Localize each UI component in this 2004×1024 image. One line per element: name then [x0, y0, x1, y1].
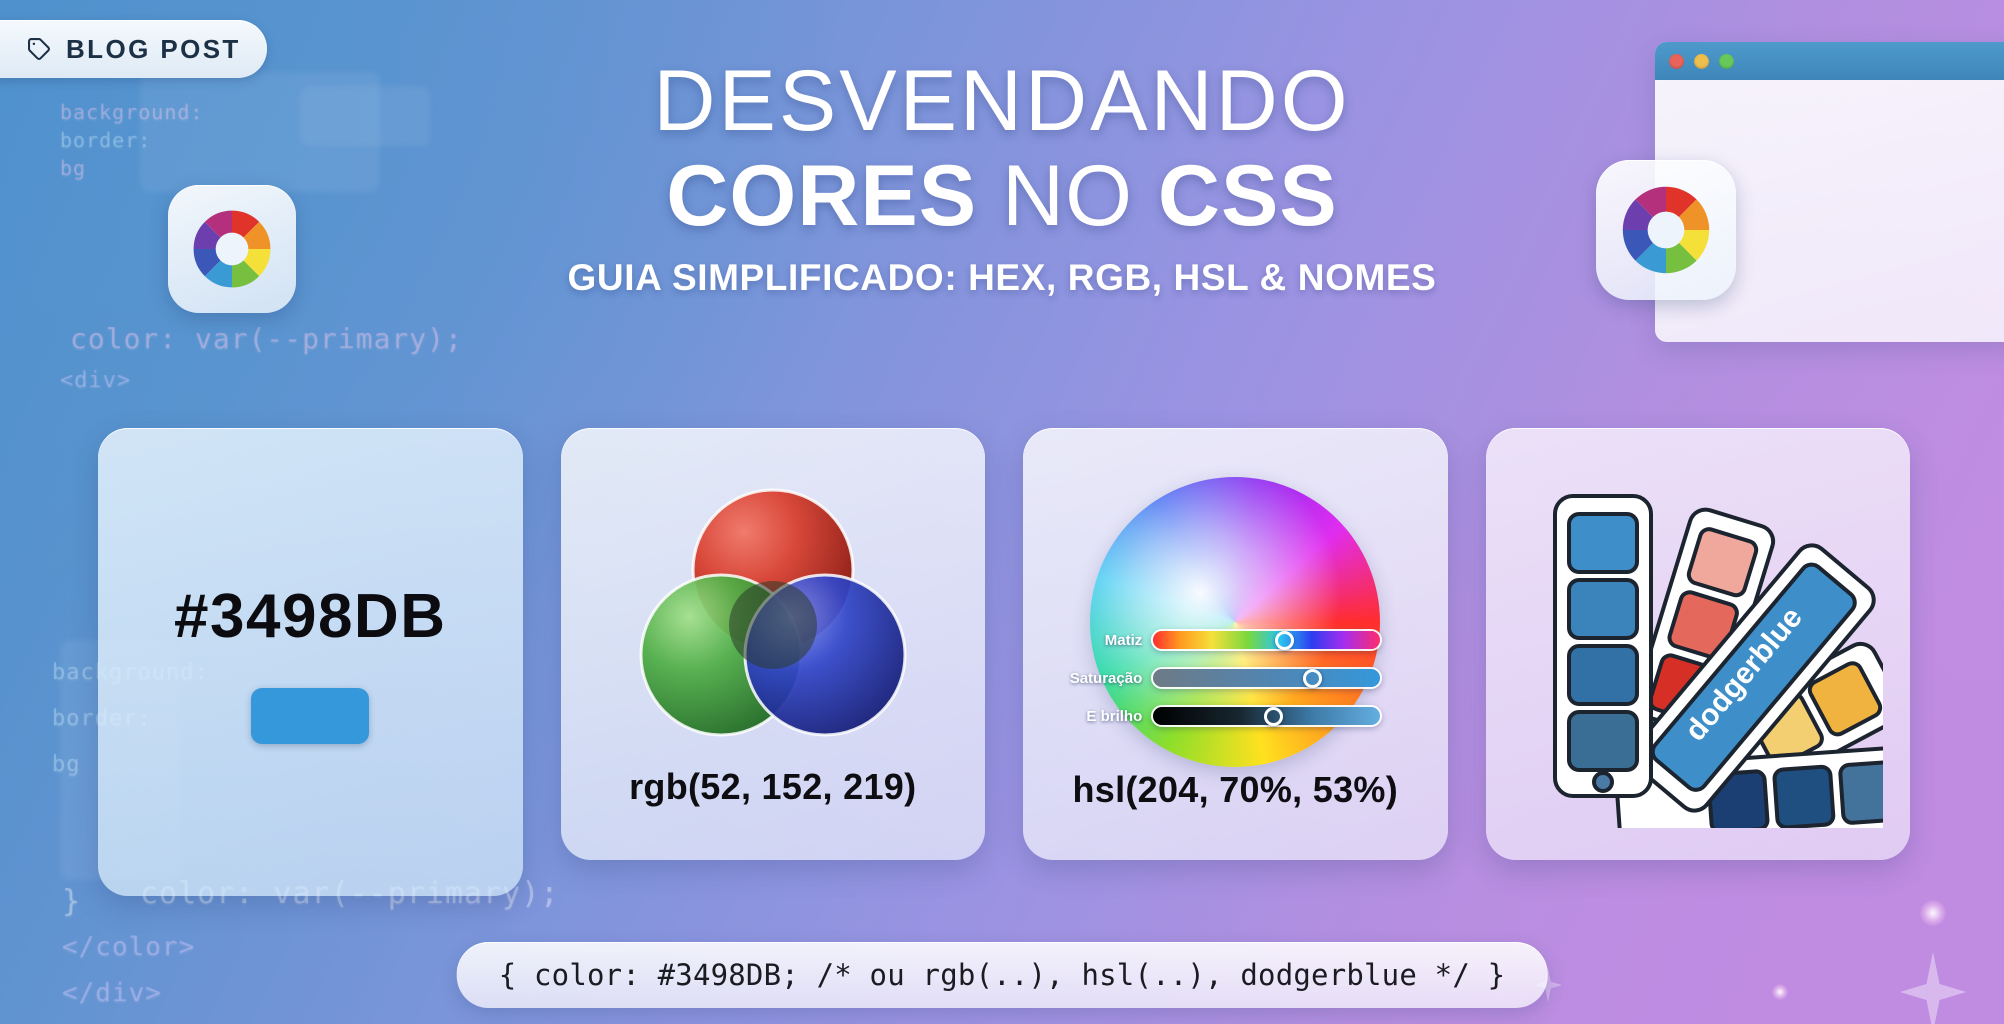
- browser-titlebar: [1655, 42, 2004, 80]
- card-hex[interactable]: #3498DB: [98, 428, 523, 896]
- window-close-dot[interactable]: [1669, 54, 1684, 69]
- page-title-css: CSS: [1158, 148, 1338, 244]
- code-snippet-bar: { color: #3498DB; /* ou rgb(..), hsl(..)…: [457, 942, 1548, 1008]
- slider-label-matiz: Matiz: [1023, 632, 1142, 649]
- hsl-color-wheel-art: Matiz Saturação E brilho: [1090, 477, 1380, 767]
- page-title-no: NO: [1002, 148, 1133, 244]
- hex-value-label: #3498DB: [174, 581, 446, 652]
- bg-code-line: </color>: [62, 932, 195, 962]
- color-wheel-icon: [1612, 176, 1720, 284]
- hsl-value-label: hsl(204, 70%, 53%): [1072, 769, 1398, 811]
- card-rgb[interactable]: rgb(52, 152, 219): [561, 428, 986, 860]
- color-wheel-icon-tile-right: [1596, 160, 1736, 300]
- rgb-venn-spheres-icon: [623, 480, 923, 752]
- blog-post-badge-label: BLOG POST: [66, 34, 241, 65]
- bg-code-line: }: [62, 884, 81, 919]
- slider-track-saturacao[interactable]: [1151, 667, 1382, 689]
- bg-code-panel: [140, 72, 380, 192]
- slider-track-brilho[interactable]: [1151, 705, 1382, 727]
- card-named-colors[interactable]: dodgerblue: [1486, 428, 1911, 860]
- sparkle-dot: [1920, 900, 1946, 926]
- slider-row-matiz[interactable]: Matiz: [1023, 629, 1382, 651]
- bg-code-line: <div>: [60, 368, 131, 393]
- blog-post-badge[interactable]: BLOG POST: [0, 20, 267, 78]
- window-minimize-dot[interactable]: [1694, 54, 1709, 69]
- sparkle-decor: [1900, 952, 1966, 1024]
- bg-code-line: bg: [60, 156, 86, 180]
- bg-code-panel: [300, 86, 430, 146]
- hex-color-swatch: [251, 688, 369, 744]
- card-hsl[interactable]: Matiz Saturação E brilho: [1023, 428, 1448, 860]
- poster-canvas: background: border: bg color: var(--prim…: [0, 0, 2004, 1024]
- slider-label-brilho: E brilho: [1023, 708, 1142, 725]
- window-maximize-dot[interactable]: [1719, 54, 1734, 69]
- saturation-gradient: [1153, 669, 1380, 687]
- slider-knob-brilho[interactable]: [1264, 707, 1283, 726]
- bg-code-line: bg: [52, 752, 81, 777]
- bg-code-line: </div>: [62, 978, 162, 1008]
- color-wheel-icon-tile-left: [168, 185, 296, 313]
- card-row: #3498DB: [98, 428, 1910, 896]
- slider-row-saturacao[interactable]: Saturação: [1023, 667, 1382, 689]
- slider-track-matiz[interactable]: [1151, 629, 1382, 651]
- tag-icon: [26, 36, 52, 62]
- bg-code-line: color: var(--primary);: [70, 322, 463, 355]
- rgb-value-label: rgb(52, 152, 219): [629, 766, 916, 808]
- slider-label-saturacao: Saturação: [1023, 670, 1142, 687]
- slider-row-brilho[interactable]: E brilho: [1023, 705, 1382, 727]
- sparkle-dot: [1772, 984, 1788, 1000]
- bg-code-line: border:: [60, 128, 151, 152]
- page-title-cores: CORES: [666, 148, 977, 244]
- bg-code-line: background:: [60, 100, 203, 124]
- color-wheel-icon: [184, 201, 280, 297]
- pantone-swatch-fan-icon: dodgerblue: [1513, 460, 1883, 828]
- slider-knob-saturacao[interactable]: [1303, 669, 1322, 688]
- slider-knob-matiz[interactable]: [1275, 631, 1294, 650]
- hue-gradient: [1153, 631, 1380, 649]
